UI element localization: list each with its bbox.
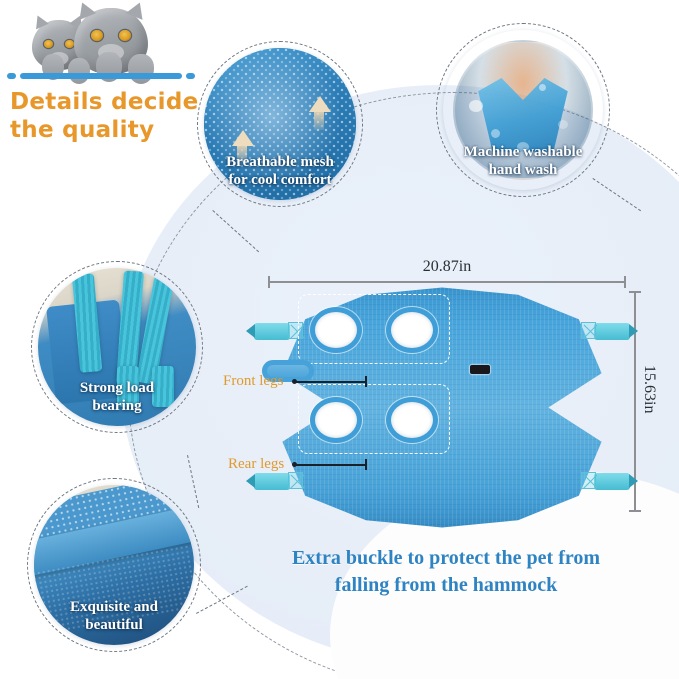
- cat-ear-icon: [31, 13, 49, 30]
- leg-hole-rear-left: [310, 397, 362, 443]
- corner-strap-top-left: [254, 323, 290, 340]
- mesh-fabric-photo: [204, 48, 356, 200]
- infographic-canvas: Details decide the quality Breathable me…: [0, 0, 679, 679]
- cat-eye-icon: [91, 30, 103, 41]
- page-title: Details decide the quality: [10, 88, 205, 144]
- page-title-line1: Details decide: [10, 88, 205, 116]
- bottom-caption-line2: falling from the hammock: [236, 572, 656, 599]
- straps-photo: [38, 268, 196, 426]
- corner-strap-bottom-left: [254, 473, 290, 490]
- callout-machine-washable[interactable]: Machine washable hand wash: [443, 30, 603, 190]
- product-hammock: [252, 285, 632, 530]
- blue-divider-bar: [20, 73, 182, 79]
- fabric-edge-photo: [34, 485, 194, 645]
- leg-hole-rear-right: [386, 397, 438, 443]
- page-title-line2: the quality: [10, 116, 205, 144]
- front-legs-label: Front legs: [223, 373, 283, 390]
- stitch-reinforcement: [581, 322, 596, 339]
- leg-hole-front-left: [310, 307, 362, 353]
- bottom-caption: Extra buckle to protect the pet from fal…: [236, 545, 656, 599]
- cat-paw: [68, 58, 90, 84]
- washing-machine-photo: [443, 30, 603, 190]
- front-legs-leader-line: [296, 381, 366, 383]
- cat-eye-icon: [44, 40, 53, 48]
- bottom-caption-line1: Extra buckle to protect the pet from: [236, 545, 656, 572]
- cats-illustration: [8, 2, 198, 92]
- cat-eye-icon: [119, 30, 131, 41]
- callout-strong-load-bearing[interactable]: Strong load bearing: [38, 268, 196, 426]
- extra-buckle: [470, 365, 490, 374]
- width-dimension-line: [268, 281, 626, 283]
- corner-strap-top-right: [594, 323, 630, 340]
- cat-eye-icon: [65, 40, 74, 48]
- rear-legs-leader-line: [296, 464, 366, 466]
- leg-hole-front-right: [386, 307, 438, 353]
- stitch-reinforcement: [581, 472, 596, 489]
- cat-paw: [128, 54, 154, 84]
- callout-breathable-mesh[interactable]: Breathable mesh for cool comfort: [204, 48, 356, 200]
- callout-exquisite-beautiful[interactable]: Exquisite and beautiful: [34, 485, 194, 645]
- stitch-reinforcement: [288, 472, 303, 489]
- height-dimension-label: 15.63in: [640, 365, 658, 413]
- width-dimension-label: 20.87in: [268, 258, 626, 276]
- cat-ear-icon: [126, 0, 148, 20]
- rear-legs-label: Rear legs: [228, 456, 284, 473]
- corner-strap-bottom-right: [594, 473, 630, 490]
